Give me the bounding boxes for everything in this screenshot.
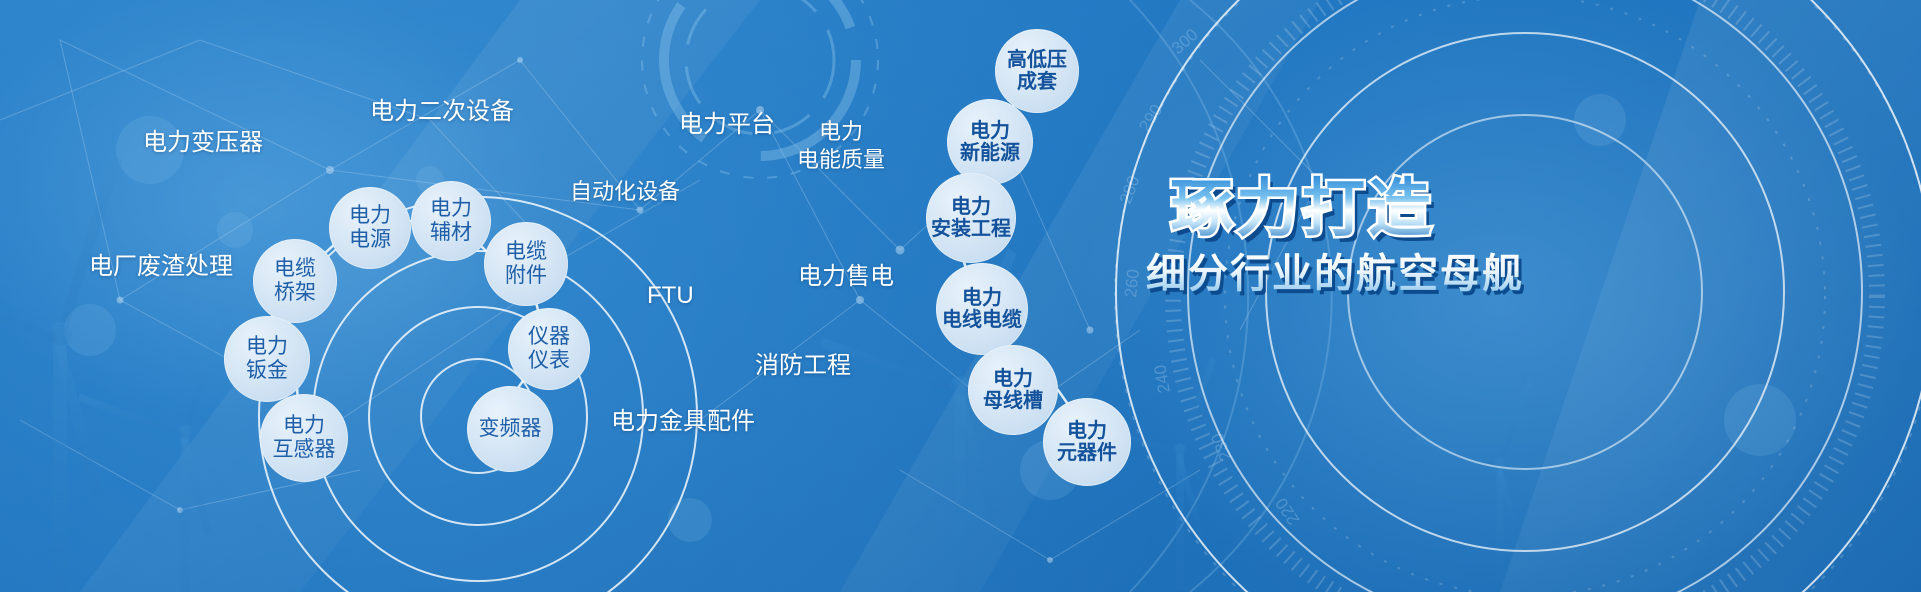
bubble-label: 电力	[430, 197, 472, 221]
bubble-label: 变频器	[479, 417, 542, 441]
bubble-power-wire-cable[interactable]: 电力电线电缆	[936, 263, 1028, 355]
label-line: 电力	[797, 118, 885, 146]
bubble-frequency-converter[interactable]: 变频器	[467, 386, 553, 472]
headline-line1: 琢力打造	[1170, 174, 1434, 244]
bubble-label: 电力	[283, 414, 325, 438]
headline-svg: 琢力打造 琢力打造 琢力打造 细分行业的航空母舰 细分行业的航空母舰	[1138, 158, 1698, 308]
bubble-label: 成套	[1017, 71, 1057, 93]
bubble-label: 电线电缆	[942, 309, 1022, 331]
svg-text:290: 290	[1135, 101, 1166, 135]
headline-block: 琢力打造 琢力打造 琢力打造 细分行业的航空母舰 细分行业的航空母舰	[1138, 158, 1698, 308]
bubble-power-sheetmetal[interactable]: 电力钣金	[224, 316, 310, 402]
bubble-label: 安装工程	[931, 218, 1011, 240]
label-automation-equipment[interactable]: 自动化设备	[570, 178, 680, 206]
bubble-label: 电力	[993, 368, 1033, 390]
bubble-power-installation[interactable]: 电力安装工程	[926, 173, 1016, 263]
bubble-label: 附件	[505, 264, 547, 288]
svg-text:300: 300	[1168, 25, 1202, 58]
svg-text:220: 220	[1272, 494, 1304, 528]
bubble-label: 电力	[970, 120, 1010, 142]
bubble-label: 电缆	[505, 240, 547, 264]
bubble-label: 辅材	[430, 221, 472, 245]
bubble-label: 互感器	[273, 438, 336, 462]
bubble-power-busway[interactable]: 电力母线槽	[968, 345, 1058, 435]
bubble-label: 钣金	[246, 359, 288, 383]
bubble-instrumentation[interactable]: 仪器仪表	[508, 308, 590, 390]
bubble-label: 仪器	[528, 325, 570, 349]
bubble-power-new-energy[interactable]: 电力新能源	[947, 99, 1033, 185]
bubble-hv-lv-switchgear[interactable]: 高低压成套	[995, 29, 1079, 113]
bubble-label: 高低压	[1007, 49, 1067, 71]
bubble-label: 仪表	[528, 349, 570, 373]
bubble-power-transformer-ct[interactable]: 电力互感器	[260, 394, 348, 482]
bubble-label: 电力	[962, 287, 1002, 309]
svg-text:230: 230	[1207, 430, 1235, 463]
label-plant-waste-treatment[interactable]: 电厂废渣处理	[89, 252, 233, 282]
label-line: 电能质量	[797, 146, 885, 174]
bubble-label: 桥架	[274, 281, 316, 305]
label-power-metal-fittings[interactable]: 电力金具配件	[611, 407, 755, 437]
power-industry-banner: 300 290 280 260 240 230 220 电力电源电力辅材电缆桥架…	[0, 0, 1921, 592]
label-power-retail[interactable]: 电力售电	[798, 262, 894, 292]
label-power-platform[interactable]: 电力平台	[679, 110, 775, 140]
bubble-label: 电力	[951, 196, 991, 218]
bubble-power-components[interactable]: 电力元器件	[1043, 398, 1131, 486]
headline-line2: 细分行业的航空母舰	[1146, 251, 1524, 296]
label-power-quality[interactable]: 电力电能质量	[797, 118, 885, 173]
bubble-power-supply[interactable]: 电力电源	[329, 187, 411, 269]
bubble-label: 电力	[1067, 420, 1107, 442]
bubble-label: 电力	[246, 335, 288, 359]
bubble-label: 元器件	[1057, 442, 1117, 464]
bubble-label: 电力	[349, 204, 391, 228]
label-ftu[interactable]: FTU	[647, 281, 694, 311]
bubble-label: 母线槽	[983, 390, 1043, 412]
bubble-cable-tray[interactable]: 电缆桥架	[253, 239, 337, 323]
bubble-label: 电源	[349, 228, 391, 252]
svg-text:240: 240	[1150, 363, 1174, 394]
bubble-cable-accessory[interactable]: 电缆附件	[484, 222, 568, 306]
label-power-secondary-equipment[interactable]: 电力二次设备	[370, 97, 514, 127]
label-power-transformer[interactable]: 电力变压器	[143, 128, 263, 158]
label-fire-protection[interactable]: 消防工程	[755, 351, 851, 381]
bubble-label: 电缆	[274, 257, 316, 281]
bubble-label: 新能源	[960, 142, 1020, 164]
bubble-power-auxiliary[interactable]: 电力辅材	[411, 181, 491, 261]
